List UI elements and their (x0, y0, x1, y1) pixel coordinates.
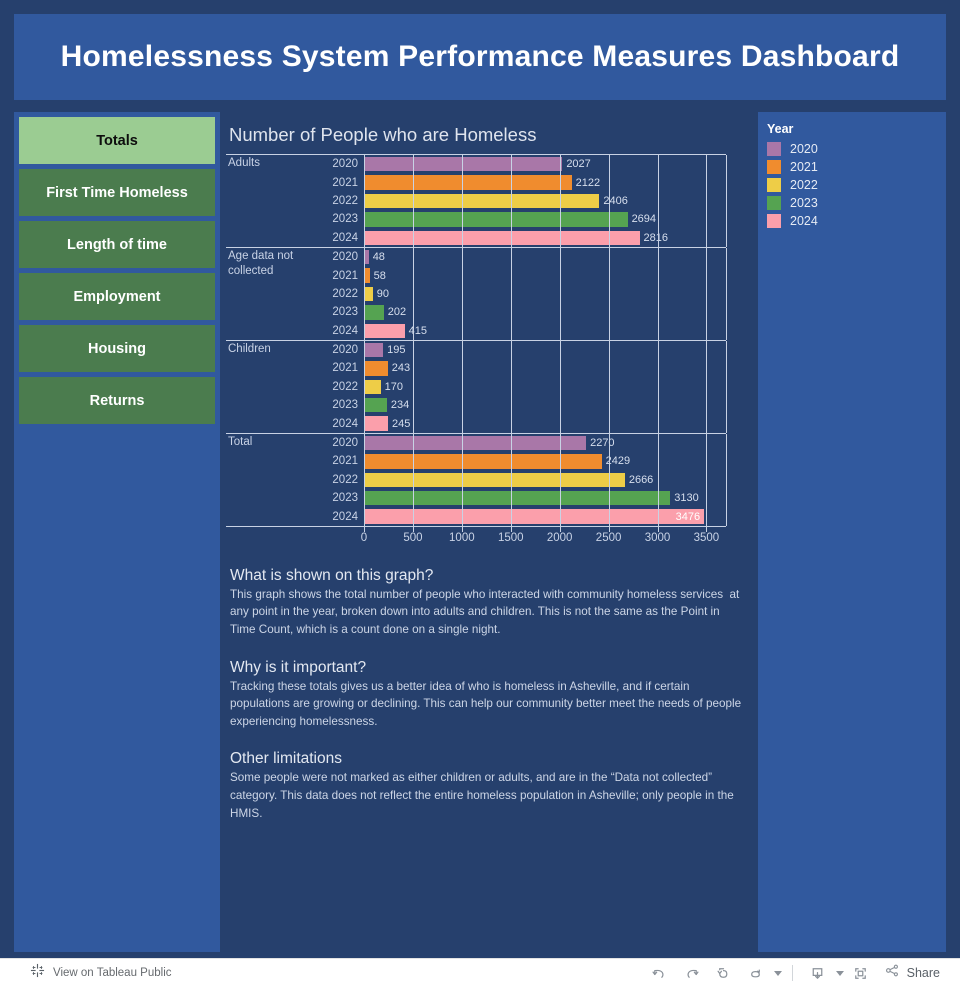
tableau-toolbar: View on Tableau Public (0, 958, 960, 987)
legend-swatch-icon (767, 178, 781, 192)
sidebar-item-length-of-time[interactable]: Length of time (19, 221, 215, 268)
chart-bar-zone: 234 (364, 396, 726, 414)
legend-panel: Year 20202021202220232024 (758, 112, 946, 952)
sidebar-item-first-time-homeless[interactable]: First Time Homeless (19, 169, 215, 216)
chart-year-label: 2020 (310, 158, 358, 170)
x-axis-tick-label: 500 (403, 532, 422, 544)
chart-bar[interactable] (364, 436, 586, 450)
download-icon[interactable] (803, 960, 833, 986)
chart-bar-zone: 2270 (364, 434, 726, 452)
sidebar-item-label: Length of time (67, 237, 167, 253)
chart-year-label: 2020 (310, 251, 358, 263)
chart-bar-zone: 202 (364, 303, 726, 321)
legend-item-2023[interactable]: 2023 (767, 196, 946, 210)
chart-bar-row[interactable]: 202048 (226, 248, 726, 266)
chart-bar-zone: 245 (364, 414, 726, 432)
chart-bar[interactable] (364, 509, 704, 523)
refresh-icon[interactable] (741, 960, 771, 986)
share-button[interactable]: Share (878, 962, 946, 984)
chart-bar-zone: 3130 (364, 489, 726, 507)
chart-bar-row[interactable]: 20222666 (226, 471, 726, 489)
chart-group-adults: Adults2020202720212122202224062023269420… (226, 155, 726, 248)
chart-bar-value: 245 (392, 418, 410, 430)
chart-year-label: 2024 (310, 418, 358, 430)
chart-bar-row[interactable]: 2022170 (226, 378, 726, 396)
chart-bar-value: 415 (409, 325, 427, 337)
chart-year-label: 2024 (310, 325, 358, 337)
chart-year-label: 2023 (310, 399, 358, 411)
chart-year-label: 2020 (310, 344, 358, 356)
sidebar-item-employment[interactable]: Employment (19, 273, 215, 320)
chart-bar-value: 48 (373, 251, 385, 263)
view-on-tableau-public-button[interactable]: View on Tableau Public (30, 963, 172, 983)
legend-item-2024[interactable]: 2024 (767, 214, 946, 228)
page-title: Homelessness System Performance Measures… (61, 40, 900, 74)
chart-bar-value: 3130 (674, 492, 698, 504)
chart-bar[interactable] (364, 157, 562, 171)
x-axis-tick-label: 2000 (547, 532, 573, 544)
sidebar-item-housing[interactable]: Housing (19, 325, 215, 372)
legend-item-2022[interactable]: 2022 (767, 178, 946, 192)
chart-bar-value: 58 (374, 270, 386, 282)
note-heading: What is shown on this graph? (230, 567, 748, 585)
chart-year-label: 2021 (310, 455, 358, 467)
chart-bar-row[interactable]: 2023202 (226, 303, 726, 321)
chart-bar-zone: 90 (364, 285, 726, 303)
x-axis-tick-label: 3500 (694, 532, 720, 544)
dashboard-banner: Homelessness System Performance Measures… (14, 14, 946, 100)
chart-bar[interactable] (364, 416, 388, 430)
chart-bar-row[interactable]: 20242816 (226, 229, 726, 247)
chart-bar-value: 3476 (676, 511, 700, 523)
chart-bar[interactable] (364, 361, 388, 375)
chart-bar-value: 2666 (629, 474, 653, 486)
chart-bar-zone: 3476 (364, 507, 726, 525)
sidebar-item-label: Employment (73, 289, 160, 305)
x-axis-tick-label: 1500 (498, 532, 524, 544)
chart-bar-zone: 243 (364, 359, 726, 377)
chart-year-label: 2024 (310, 232, 358, 244)
chart-plot-area[interactable]: Adults2020202720212122202224062023269420… (226, 154, 726, 527)
chart-bar[interactable] (364, 343, 383, 357)
chart-bar-value: 2270 (590, 437, 614, 449)
fullscreen-icon[interactable] (846, 960, 876, 986)
legend-item-2020[interactable]: 2020 (767, 142, 946, 156)
chart-bar-zone: 2666 (364, 471, 726, 489)
legend-item-label: 2022 (790, 178, 818, 192)
chart-bar-zone: 170 (364, 378, 726, 396)
chart-year-label: 2022 (310, 474, 358, 486)
legend-swatch-icon (767, 142, 781, 156)
chart-bar[interactable] (364, 194, 599, 208)
chart-year-label: 2023 (310, 492, 358, 504)
chart-bar-zone: 415 (364, 322, 726, 340)
chart-bar-value: 2122 (576, 177, 600, 189)
chart-bar[interactable] (364, 491, 670, 505)
chart-bar-value: 195 (387, 344, 405, 356)
chart-bar-value: 2816 (644, 232, 668, 244)
sidebar-item-returns[interactable]: Returns (19, 377, 215, 424)
chart-bar[interactable] (364, 324, 405, 338)
legend-item-label: 2023 (790, 196, 818, 210)
chart-bar[interactable] (364, 268, 370, 282)
chart-year-label: 2022 (310, 195, 358, 207)
undo-icon[interactable] (645, 960, 675, 986)
chart-group-total: Total20202270202124292022266620233130202… (226, 434, 726, 527)
chart-bar-value: 2406 (603, 195, 627, 207)
chart-bar-value: 243 (392, 362, 410, 374)
chart-bar-zone: 195 (364, 341, 726, 359)
chart-bar-row[interactable]: 20212429 (226, 452, 726, 470)
chart-bar[interactable] (364, 454, 602, 468)
chart-bar-zone: 2122 (364, 173, 726, 191)
chart-bar-zone: 2406 (364, 192, 726, 210)
legend-title: Year (767, 122, 946, 136)
chart-bar-value: 2694 (632, 213, 656, 225)
note-body: This graph shows the total number of peo… (230, 586, 748, 639)
x-axis-tick-label: 1000 (449, 532, 475, 544)
legend-item-label: 2020 (790, 142, 818, 156)
sidebar-item-label: Housing (88, 341, 146, 357)
chart-year-label: 2021 (310, 270, 358, 282)
chart-year-label: 2020 (310, 437, 358, 449)
bar-chart[interactable]: Adults2020202720212122202224062023269420… (220, 154, 758, 551)
chart-year-label: 2022 (310, 381, 358, 393)
legend-swatch-icon (767, 214, 781, 228)
chart-bar-row[interactable]: 20202027 (226, 155, 726, 173)
legend-item-label: 2024 (790, 214, 818, 228)
chart-bar-row[interactable]: 20243476 (226, 507, 726, 525)
chart-bar-zone: 2816 (364, 229, 726, 247)
chart-year-label: 2022 (310, 288, 358, 300)
chart-bar-row[interactable]: 2024245 (226, 414, 726, 432)
chart-bar-zone: 2429 (364, 452, 726, 470)
chart-bar-value: 234 (391, 399, 409, 411)
chart-bar-row[interactable]: 20233130 (226, 489, 726, 507)
chart-group-age-data-not-collected: Age data not collected202048202158202290… (226, 248, 726, 341)
chart-bar-value: 90 (377, 288, 389, 300)
note-heading: Other limitations (230, 750, 748, 768)
toolbar-actions: Share (645, 960, 946, 986)
chart-bar-row[interactable]: 2024415 (226, 322, 726, 340)
sidebar-item-label: First Time Homeless (46, 185, 188, 201)
legend-item-2021[interactable]: 2021 (767, 160, 946, 174)
chart-group-children: Children20201952021243202217020232342024… (226, 341, 726, 434)
notes-section: What is shown on this graph?This graph s… (220, 551, 758, 822)
chart-bar[interactable] (364, 398, 387, 412)
chart-bar-row[interactable]: 202158 (226, 266, 726, 284)
chart-year-label: 2024 (310, 511, 358, 523)
legend-swatch-icon (767, 160, 781, 174)
chart-year-label: 2023 (310, 213, 358, 225)
view-on-tableau-public-label: View on Tableau Public (53, 967, 172, 979)
chart-bar-value: 170 (385, 381, 403, 393)
chart-bar-value: 202 (388, 306, 406, 318)
chart-title: Number of People who are Homeless (220, 112, 758, 146)
x-axis: 0500100015002000250030003500 (226, 527, 726, 551)
chart-bar-row[interactable]: 2023234 (226, 396, 726, 414)
chart-bar-zone: 58 (364, 266, 726, 284)
sidebar: TotalsFirst Time HomelessLength of timeE… (14, 112, 220, 952)
chart-year-label: 2023 (310, 306, 358, 318)
note-body: Tracking these totals gives us a better … (230, 678, 748, 731)
tableau-logo-icon (30, 963, 45, 983)
chart-bar-row[interactable]: 2021243 (226, 359, 726, 377)
chart-bar-row[interactable]: 20202270 (226, 434, 726, 452)
chart-bar-row[interactable]: 20212122 (226, 173, 726, 191)
chart-bar[interactable] (364, 473, 625, 487)
dashboard-root: Homelessness System Performance Measures… (0, 0, 960, 987)
share-label: Share (907, 966, 940, 980)
sidebar-item-label: Returns (90, 393, 145, 409)
revert-icon[interactable] (709, 960, 739, 986)
chart-bar-row[interactable]: 20222406 (226, 192, 726, 210)
chart-year-label: 2021 (310, 177, 358, 189)
x-axis-tick-label: 2500 (596, 532, 622, 544)
sidebar-item-totals[interactable]: Totals (19, 117, 215, 164)
legend-swatch-icon (767, 196, 781, 210)
legend-item-label: 2021 (790, 160, 818, 174)
chart-bar-zone: 48 (364, 248, 726, 266)
chart-bar-value: 2429 (606, 455, 630, 467)
main-panel: Number of People who are Homeless Adults… (220, 112, 758, 952)
chart-bar[interactable] (364, 212, 628, 226)
chart-bar-row[interactable]: 202290 (226, 285, 726, 303)
sidebar-item-label: Totals (96, 133, 138, 149)
refresh-dropdown-icon[interactable] (774, 971, 782, 976)
chart-bar-value: 2027 (566, 158, 590, 170)
chart-bar[interactable] (364, 287, 373, 301)
note-body: Some people were not marked as either ch… (230, 769, 748, 822)
x-axis-tick-label: 0 (361, 532, 367, 544)
chart-bar[interactable] (364, 250, 369, 264)
toolbar-divider (792, 965, 793, 981)
x-axis-tick-label: 3000 (645, 532, 671, 544)
chart-bar[interactable] (364, 231, 640, 245)
chart-bar[interactable] (364, 380, 381, 394)
download-dropdown-icon[interactable] (836, 971, 844, 976)
chart-bar[interactable] (364, 175, 572, 189)
chart-bar-zone: 2694 (364, 210, 726, 228)
share-icon (884, 962, 901, 984)
redo-icon[interactable] (677, 960, 707, 986)
chart-bar-zone: 2027 (364, 155, 726, 173)
chart-bar-row[interactable]: 2020195 (226, 341, 726, 359)
chart-bar[interactable] (364, 305, 384, 319)
chart-year-label: 2021 (310, 362, 358, 374)
note-heading: Why is it important? (230, 659, 748, 677)
chart-bar-row[interactable]: 20232694 (226, 210, 726, 228)
